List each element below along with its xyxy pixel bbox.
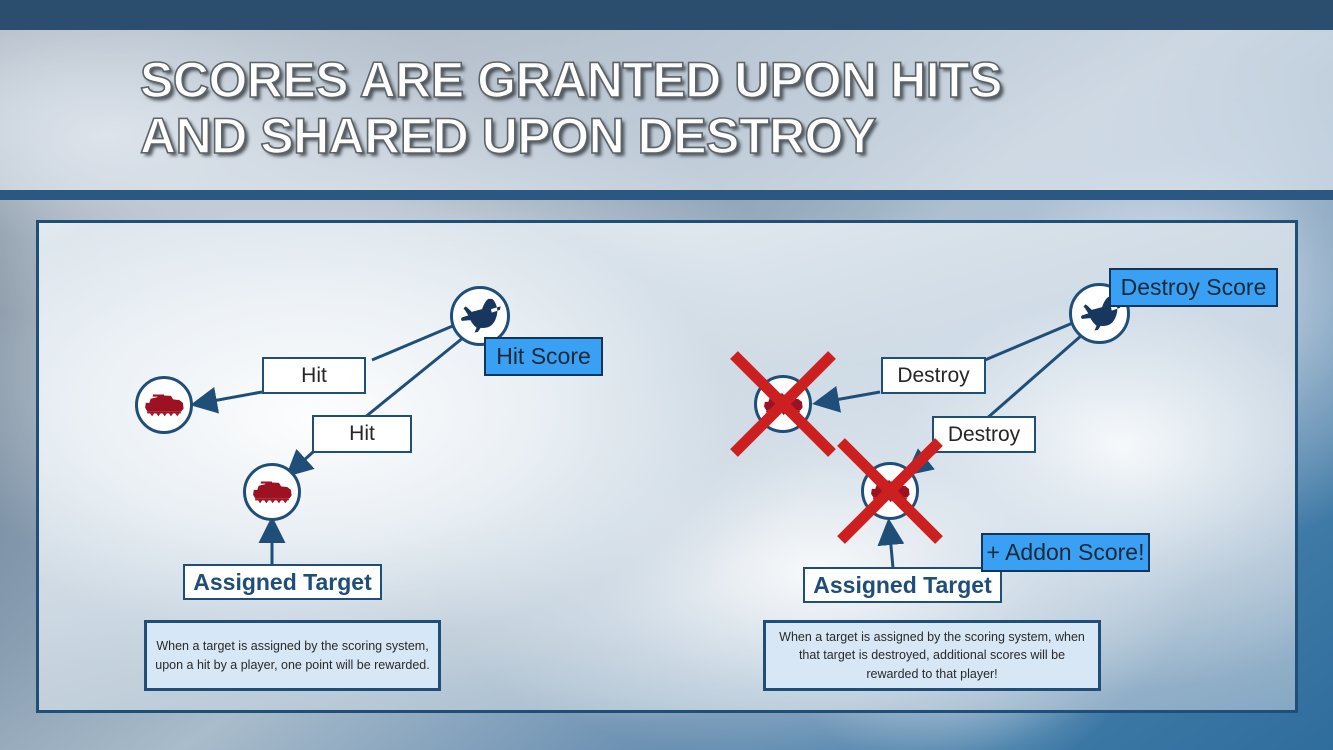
right-target-node-1[interactable] — [754, 375, 812, 433]
right-caption: When a target is assigned by the scoring… — [763, 620, 1101, 691]
armored-vehicle-icon — [143, 392, 185, 418]
armored-vehicle-icon — [251, 479, 293, 505]
slide-canvas: SCORES ARE GRANTED UPON HITS AND SHARED … — [0, 0, 1333, 750]
left-caption: When a target is assigned by the scoring… — [144, 620, 441, 691]
fighter-jet-icon — [458, 296, 502, 336]
page-title-line-1: SCORES ARE GRANTED UPON HITS — [140, 52, 1200, 108]
armored-vehicle-icon — [762, 391, 804, 417]
addon-score-badge[interactable]: + Addon Score! — [981, 533, 1150, 572]
page-title-line-2: AND SHARED UPON DESTROY — [140, 108, 1200, 164]
left-target-node-2[interactable] — [243, 463, 301, 521]
destroy-score-badge[interactable]: Destroy Score — [1109, 268, 1278, 307]
left-assigned-target-label[interactable]: Assigned Target — [183, 564, 382, 600]
right-destroy-label-2[interactable]: Destroy — [932, 416, 1036, 453]
armored-vehicle-icon — [869, 478, 911, 504]
right-destroy-label-1[interactable]: Destroy — [881, 357, 986, 394]
hit-score-badge[interactable]: Hit Score — [484, 337, 603, 376]
left-hit-label-2[interactable]: Hit — [312, 415, 412, 453]
right-assigned-target-label[interactable]: Assigned Target — [803, 567, 1002, 603]
page-title: SCORES ARE GRANTED UPON HITS AND SHARED … — [140, 52, 1200, 164]
left-hit-label-1[interactable]: Hit — [262, 357, 366, 394]
right-target-node-2[interactable] — [861, 462, 919, 520]
left-target-node-1[interactable] — [135, 376, 193, 434]
